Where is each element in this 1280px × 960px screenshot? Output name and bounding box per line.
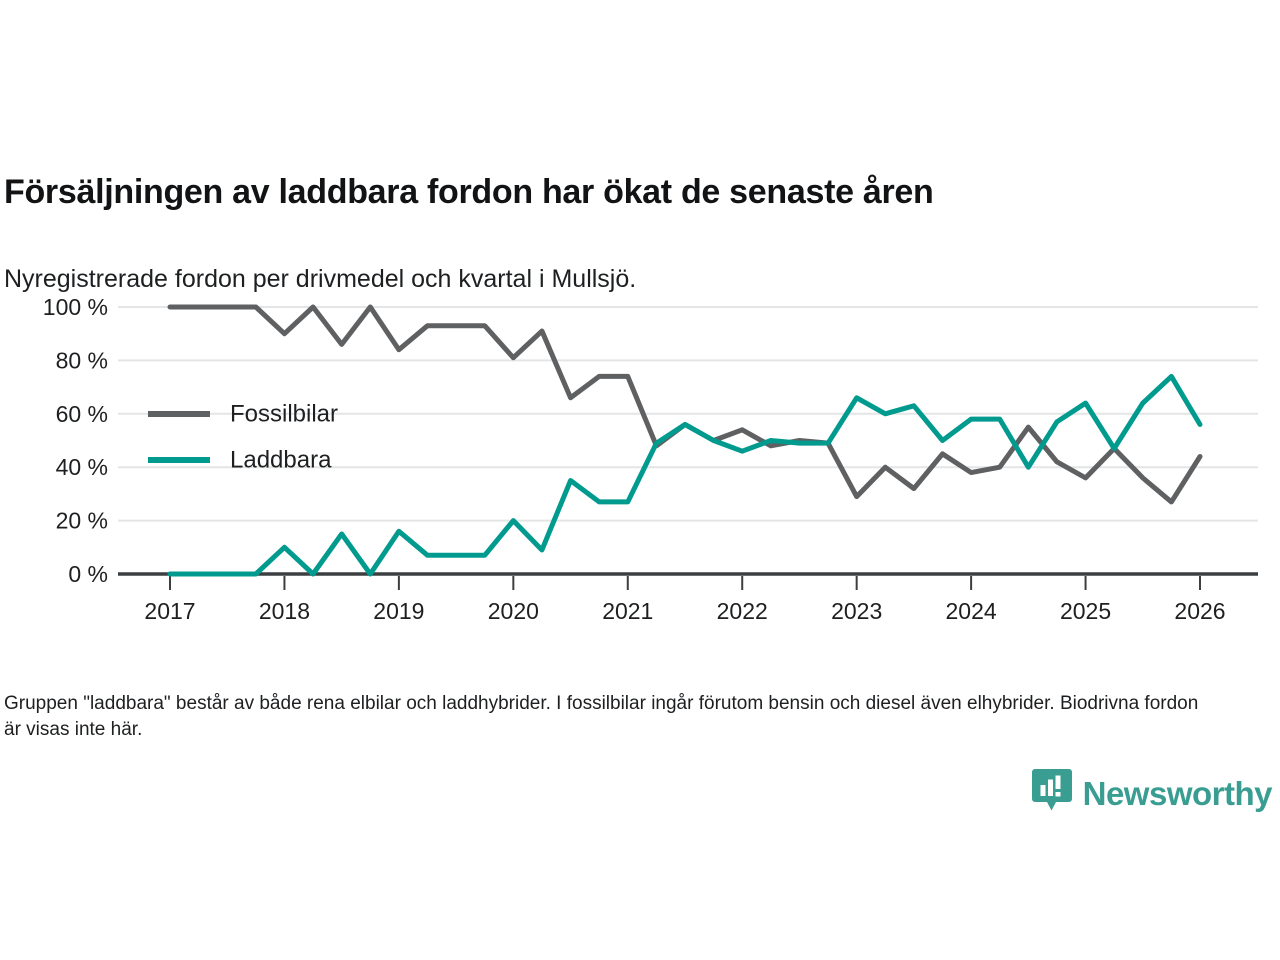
x-axis-tick-label: 2017 bbox=[144, 598, 195, 624]
x-axis-tick-label: 2026 bbox=[1174, 598, 1225, 624]
newsworthy-logo: Newsworthy bbox=[1031, 770, 1272, 816]
chart-plot-area: 0 %20 %40 %60 %80 %100 %2017201820192020… bbox=[0, 285, 1280, 630]
y-axis-tick-label: 0 % bbox=[68, 561, 108, 587]
legend-label-fossilbilar: Fossilbilar bbox=[230, 400, 338, 427]
bar-chart-speech-bubble-icon bbox=[1031, 768, 1073, 819]
y-axis-tick-label: 60 % bbox=[56, 401, 108, 427]
y-axis-tick-label: 20 % bbox=[56, 508, 108, 534]
x-axis-tick-label: 2020 bbox=[488, 598, 539, 624]
y-axis-tick-label: 80 % bbox=[56, 347, 108, 373]
chart-footnote: Gruppen "laddbara" består av både rena e… bbox=[4, 691, 1219, 743]
line-chart: 0 %20 %40 %60 %80 %100 %2017201820192020… bbox=[0, 285, 1280, 630]
x-axis-tick-label: 2021 bbox=[602, 598, 653, 624]
x-axis-tick-label: 2019 bbox=[373, 598, 424, 624]
x-axis-tick-label: 2023 bbox=[831, 598, 882, 624]
y-axis-tick-label: 100 % bbox=[43, 294, 108, 320]
y-axis-tick-label: 40 % bbox=[56, 454, 108, 480]
page-title: Försäljningen av laddbara fordon har öka… bbox=[4, 171, 1244, 213]
chart-page: Försäljningen av laddbara fordon har öka… bbox=[0, 0, 1280, 960]
x-axis-tick-label: 2025 bbox=[1060, 598, 1111, 624]
x-axis-tick-label: 2022 bbox=[717, 598, 768, 624]
x-axis-tick-label: 2024 bbox=[946, 598, 997, 624]
legend-label-laddbara: Laddbara bbox=[230, 446, 332, 473]
x-axis-tick-label: 2018 bbox=[259, 598, 310, 624]
brand-wordmark: Newsworthy bbox=[1083, 777, 1272, 810]
